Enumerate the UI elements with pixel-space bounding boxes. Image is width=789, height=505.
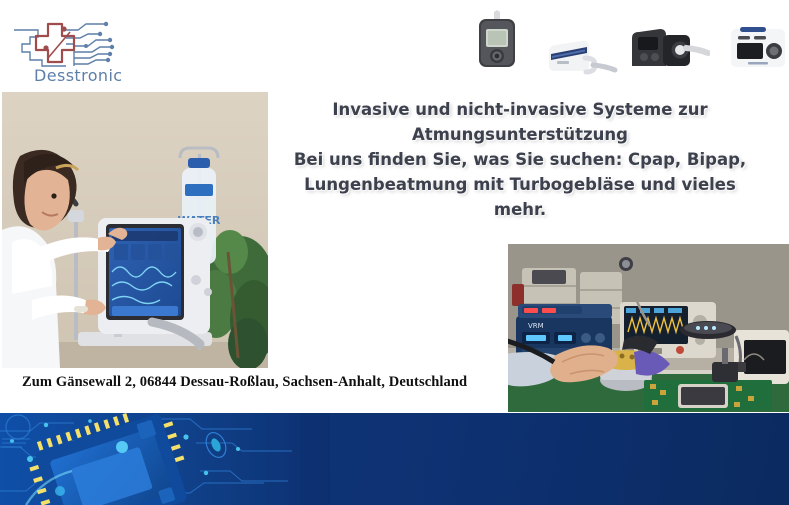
footer-bar: info@desstronic,de Https://www.desstroni… <box>0 413 789 505</box>
home-ventilator-icon <box>728 25 788 71</box>
header-bar: Desstronic <box>0 0 789 90</box>
photo-clinician-operating-ventilator: WATER <box>2 92 268 368</box>
hero-line-2: Atmungsunterstützung <box>292 122 748 147</box>
svg-text:VRM: VRM <box>528 322 544 330</box>
hero-line-4: Lungenbeatmung mit Turbogebläse und viel… <box>292 172 748 197</box>
cpap-machine-icon <box>545 36 619 78</box>
device-image-portable-oxygen-concentrator[interactable] <box>473 10 521 73</box>
device-image-strip <box>455 10 785 72</box>
portable-oxygen-concentrator-icon <box>473 10 521 68</box>
bipap-machine-icon <box>630 24 710 72</box>
photo-electronics-repair-bench: VRM <box>508 244 789 412</box>
electronics-repair-bench-illustration: VRM <box>508 244 789 412</box>
brand-logo[interactable]: Desstronic <box>8 14 136 84</box>
company-address: Zum Gänsewall 2, 06844 Dessau-Roßlau, Sa… <box>22 374 467 391</box>
circuit-board-graphic-icon <box>0 413 330 505</box>
hero-line-5: mehr. <box>292 197 748 222</box>
brand-logo-wordmark: Desstronic <box>34 66 123 85</box>
device-image-bipap-machine[interactable] <box>630 24 710 77</box>
hero-headline: Invasive und nicht-invasive Systeme zur … <box>292 97 748 222</box>
footer-circuit-graphic <box>0 413 330 505</box>
poster-page: Desstronic <box>0 0 789 505</box>
clinician-ventilator-illustration: WATER <box>2 92 268 368</box>
hero-line-3: Bei uns finden Sie, was Sie suchen: Cpap… <box>292 147 748 172</box>
hero-line-1: Invasive und nicht-invasive Systeme zur <box>292 97 748 122</box>
device-image-cpap-machine[interactable] <box>545 36 619 83</box>
device-image-home-ventilator[interactable] <box>728 25 788 76</box>
